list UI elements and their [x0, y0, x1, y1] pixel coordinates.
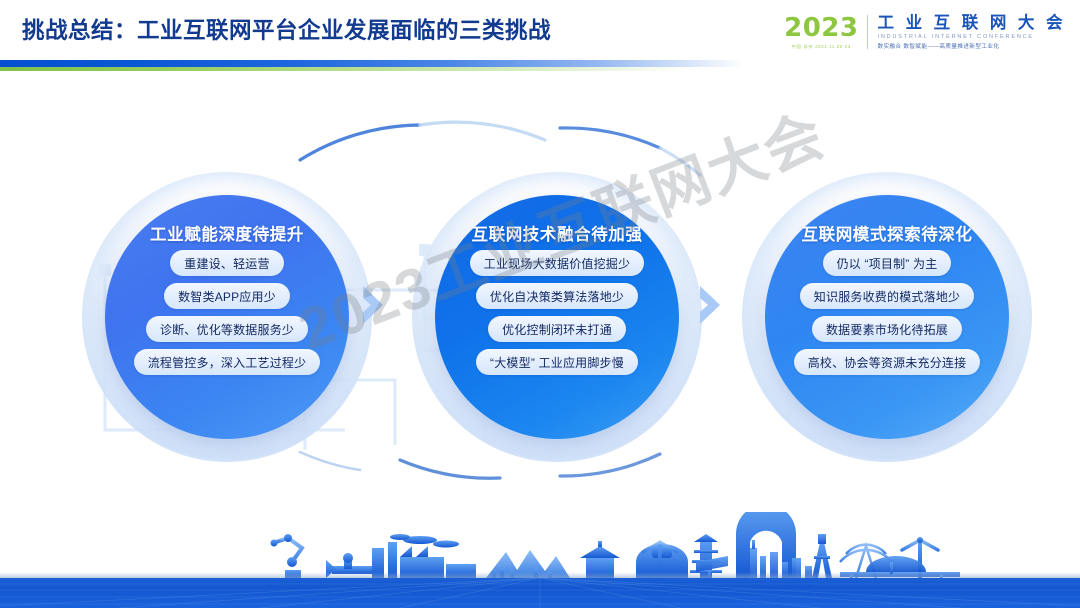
conference-logo: 2023 中国·苏州 2023.11.20-23 工 业 互 联 网 大 会 I… — [784, 8, 1066, 56]
list-item[interactable]: 仍以 “项目制” 为主 — [823, 250, 952, 276]
arrow-1-to-2-icon — [358, 282, 388, 328]
circle-1-item-list: 重建设、轻运营 数智类APP应用少 诊断、优化等数据服务少 流程管控多，深入工艺… — [82, 250, 372, 375]
logo-divider — [867, 15, 868, 49]
logo-name-en: INDUSTRIAL INTERNET CONFERENCE — [877, 34, 1066, 40]
logo-slogan: 数实融合 数智赋能——高质量推进新型工业化 — [877, 42, 1066, 50]
arrow-2-to-3-icon — [695, 282, 725, 328]
list-item[interactable]: “大模型” 工业应用脚步慢 — [476, 349, 638, 375]
page-title: 挑战总结：工业互联网平台企业发展面临的三类挑战 — [22, 13, 551, 45]
list-item[interactable]: 诊断、优化等数据服务少 — [146, 316, 308, 342]
ground-grid — [0, 578, 1080, 608]
logo-text-block: 工 业 互 联 网 大 会 INDUSTRIAL INTERNET CONFER… — [877, 14, 1066, 51]
circle-2-item-list: 工业现场大数据价值挖掘少 优化自决策类算法落地少 优化控制闭环未打通 “大模型”… — [412, 250, 702, 375]
slide-canvas: 挑战总结：工业互联网平台企业发展面临的三类挑战 2023 中国·苏州 2023.… — [0, 0, 1080, 608]
list-item[interactable]: 工业现场大数据价值挖掘少 — [470, 250, 644, 276]
header: 挑战总结：工业互联网平台企业发展面临的三类挑战 2023 中国·苏州 2023.… — [0, 0, 1080, 72]
header-rule-blue — [0, 60, 745, 67]
circle-1-title: 工业赋能深度待提升 — [82, 221, 372, 245]
list-item[interactable]: 高校、协会等资源未充分连接 — [794, 349, 981, 375]
circle-2-title: 互联网技术融合待加强 — [412, 221, 702, 245]
header-rule-green — [0, 67, 690, 71]
list-item[interactable]: 重建设、轻运营 — [170, 250, 283, 276]
list-item[interactable]: 数智类APP应用少 — [164, 283, 290, 309]
circle-3-title: 互联网模式探索待深化 — [742, 221, 1032, 245]
list-item[interactable]: 优化自决策类算法落地少 — [476, 283, 638, 309]
logo-name-cn: 工 业 互 联 网 大 会 — [877, 14, 1066, 32]
list-item[interactable]: 流程管控多，深入工艺过程少 — [134, 349, 321, 375]
list-item[interactable]: 数据要素市场化待拓展 — [812, 316, 962, 342]
logo-year: 2023 — [784, 15, 858, 41]
skyline-illustration — [0, 512, 1080, 580]
logo-year-block: 2023 中国·苏州 2023.11.20-23 — [784, 15, 867, 50]
list-item[interactable]: 优化控制闭环未打通 — [488, 316, 626, 342]
list-item[interactable]: 知识服务收费的模式落地少 — [800, 283, 974, 309]
logo-year-subtext: 中国·苏州 2023.11.20-23 — [792, 44, 851, 50]
circle-3-item-list: 仍以 “项目制” 为主 知识服务收费的模式落地少 数据要素市场化待拓展 高校、协… — [742, 250, 1032, 375]
robot-arm-icon — [276, 538, 302, 575]
